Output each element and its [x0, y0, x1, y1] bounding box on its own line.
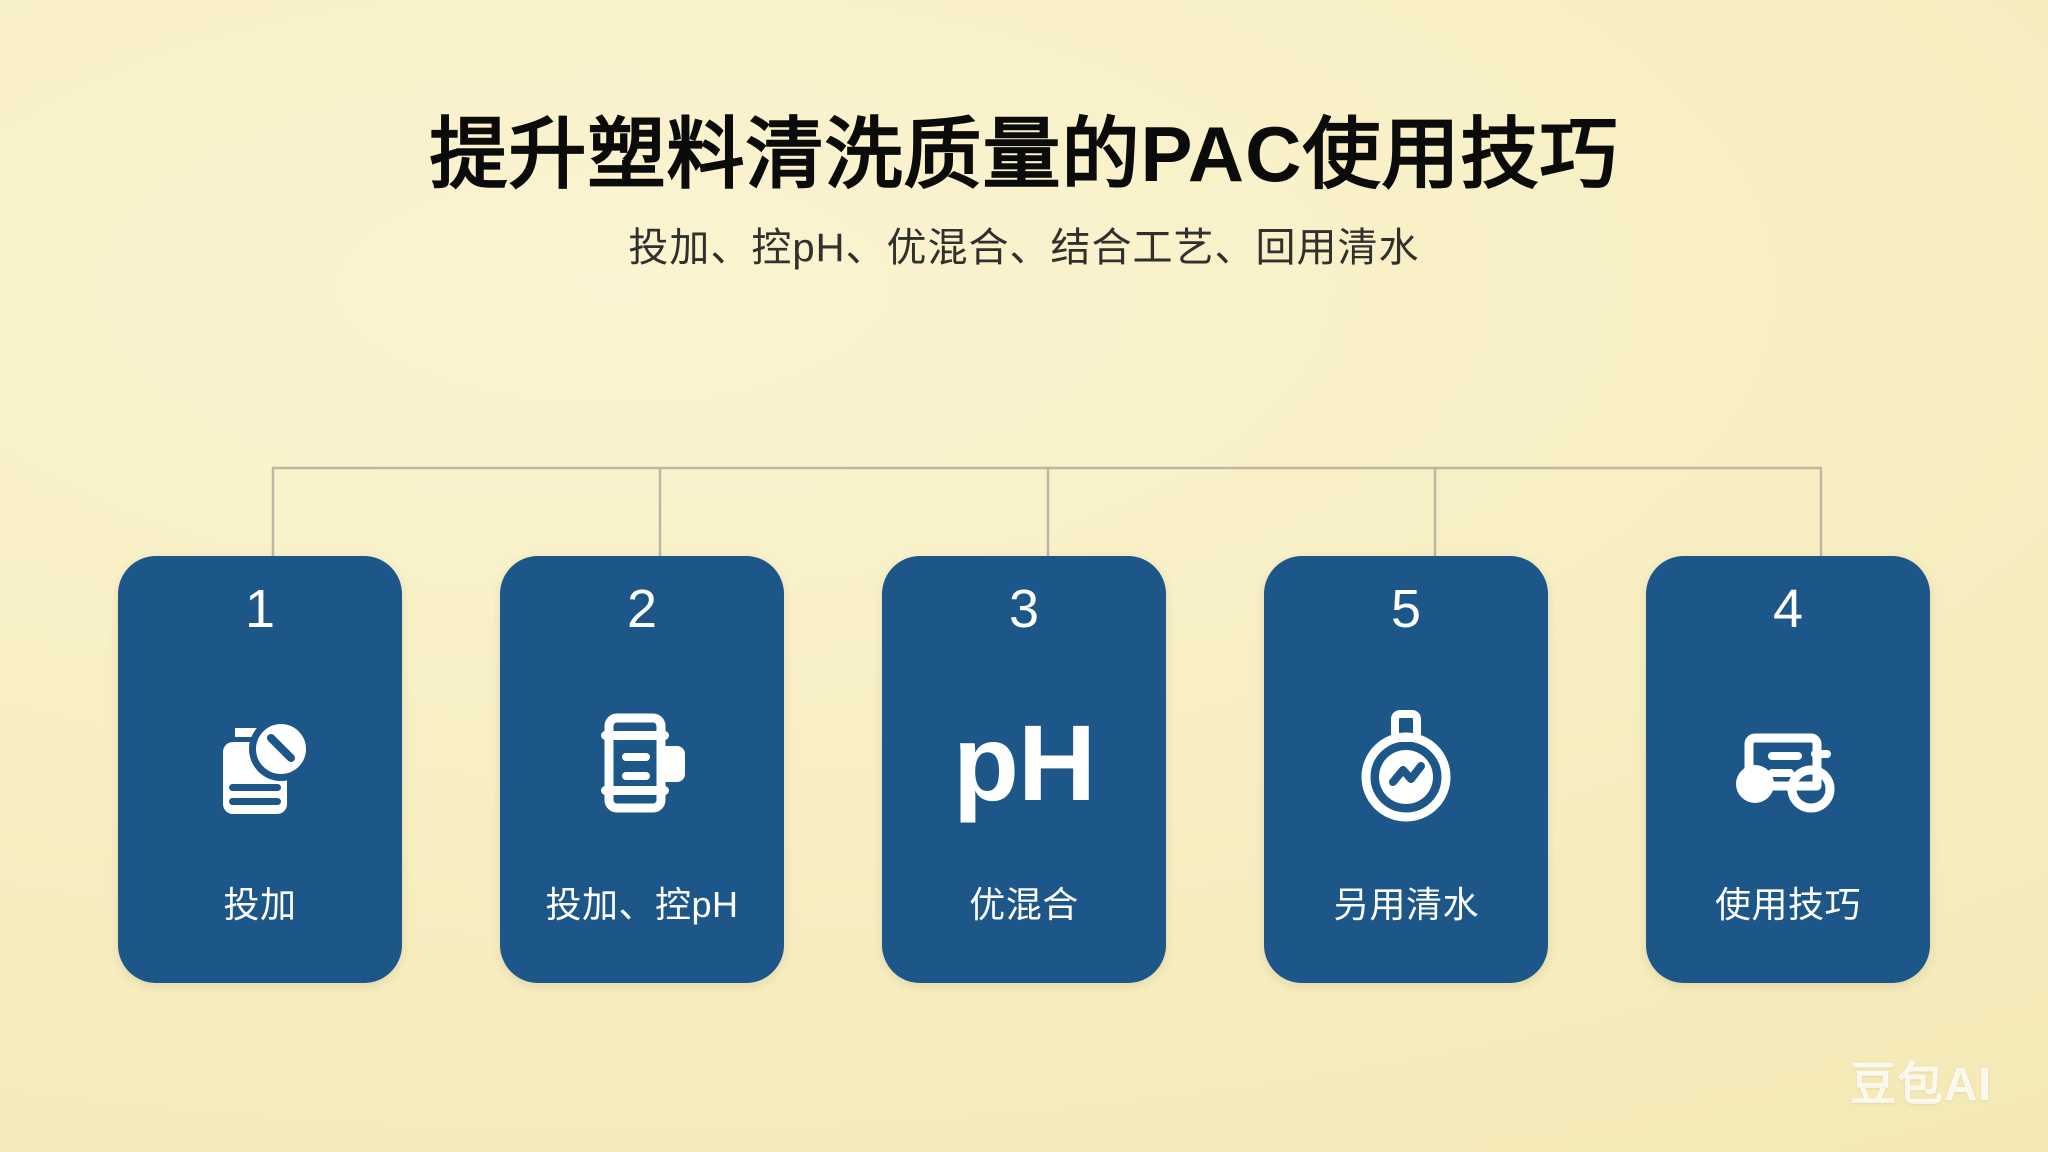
dosing-pump-icon [500, 688, 784, 838]
step-card-1[interactable]: 1 投加 [118, 556, 402, 983]
step-number: 3 [1009, 582, 1039, 636]
bottle-clock-icon [118, 688, 402, 838]
ph-text-icon: pH [882, 688, 1166, 838]
watermark: 豆包AI [1850, 1048, 1992, 1114]
page-title: 提升塑料清洗质量的PAC使用技巧 [0, 112, 2048, 196]
step-card-4[interactable]: 5 叧用清水 [1264, 556, 1548, 983]
step-number: 5 [1391, 582, 1421, 636]
infographic-canvas: 提升塑料清洗质量的PAC使用技巧 投加、控pH、优混合、结合工艺、回用清水 1 [0, 0, 2048, 1152]
step-card-2[interactable]: 2 投加、控pH [500, 556, 784, 983]
step-card-5[interactable]: 4 使用技巧 [1646, 556, 1930, 983]
page-subtitle: 投加、控pH、优混合、结合工艺、回用清水 [0, 226, 2048, 270]
card-row: 1 投加 2 [118, 556, 1930, 983]
step-label: 投加、控pH [500, 876, 784, 928]
ph-glyph-text: pH [953, 709, 1095, 817]
step-label: 优混合 [882, 876, 1166, 928]
header-block: 提升塑料清洗质量的PAC使用技巧 投加、控pH、优混合、结合工艺、回用清水 [0, 112, 2048, 270]
gauge-meter-icon [1264, 688, 1548, 838]
step-card-3[interactable]: 3 pH 优混合 [882, 556, 1166, 983]
step-label: 使用技巧 [1646, 876, 1930, 928]
step-label: 叧用清水 [1264, 876, 1548, 928]
step-number: 1 [245, 582, 275, 636]
machine-roller-icon [1646, 688, 1930, 838]
step-number: 2 [627, 582, 657, 636]
step-label: 投加 [118, 876, 402, 928]
step-number: 4 [1773, 582, 1803, 636]
